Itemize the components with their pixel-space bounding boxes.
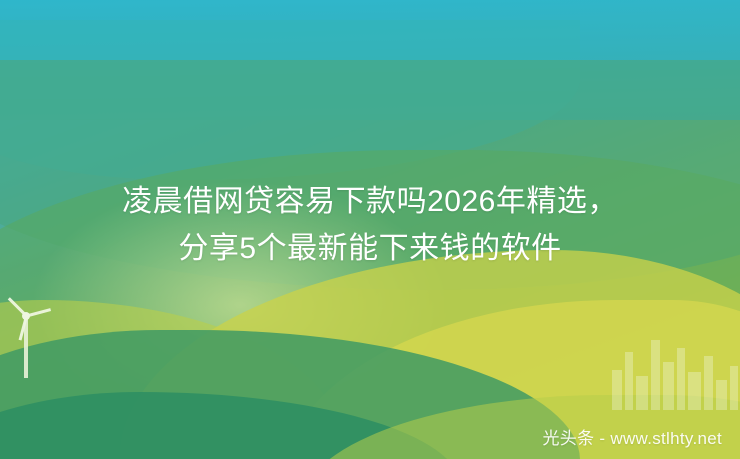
- city-skyline-icon: [610, 300, 740, 410]
- building: [636, 376, 648, 410]
- title-line-2: 分享5个最新能下来钱的软件: [40, 225, 700, 272]
- title-line-1: 凌晨借网贷容易下款吗2026年精选，: [40, 178, 700, 225]
- poster-image: 凌晨借网贷容易下款吗2026年精选， 分享5个最新能下来钱的软件 光头条 - w…: [0, 0, 740, 459]
- building: [677, 348, 685, 410]
- building: [612, 370, 622, 410]
- building: [663, 362, 674, 410]
- watermark: 光头条 - www.stlhty.net: [543, 424, 723, 449]
- building: [730, 366, 738, 410]
- building: [688, 372, 701, 410]
- building: [625, 352, 633, 410]
- poster-title: 凌晨借网贷容易下款吗2026年精选， 分享5个最新能下来钱的软件: [0, 178, 740, 272]
- turbine-blade: [25, 308, 51, 318]
- building: [704, 356, 713, 410]
- wind-turbine-icon: [0, 290, 70, 380]
- building: [651, 340, 660, 410]
- building: [716, 380, 727, 410]
